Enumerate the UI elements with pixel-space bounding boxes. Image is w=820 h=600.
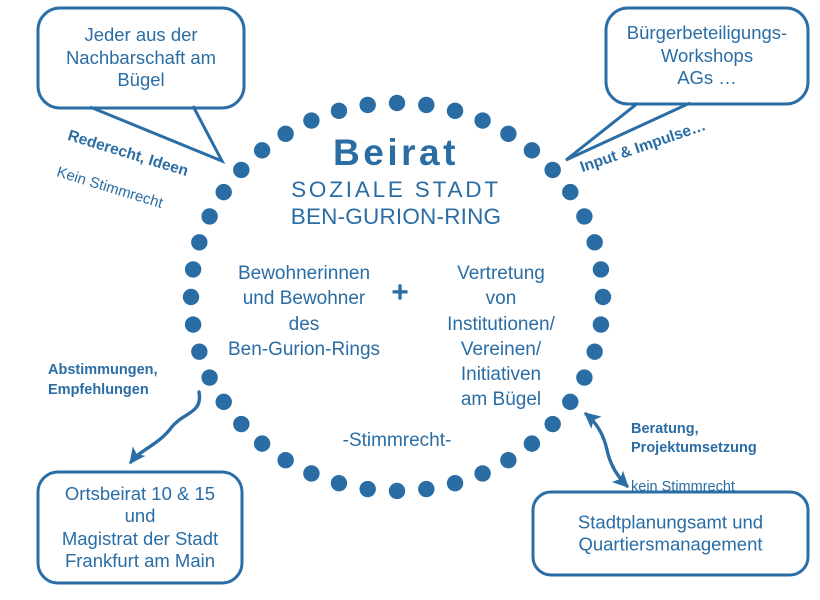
- ring-dot: [447, 475, 463, 491]
- ring-dot: [359, 481, 375, 497]
- arrow-beratung: [586, 414, 627, 486]
- ring-dot: [593, 316, 609, 332]
- ring-dot: [254, 435, 270, 451]
- ring-dot: [544, 416, 560, 432]
- ring-dot: [277, 452, 293, 468]
- arrow-abstimmungen: [131, 392, 200, 462]
- box-bottom-right-text: Stadtplanungsamt und Quartiersmanagement: [533, 511, 808, 556]
- label-beratung-bold: Beratung, Projektumsetzung: [631, 420, 796, 459]
- ring-dot: [185, 316, 201, 332]
- box-bottom-left-text: Ortsbeirat 10 & 15 und Magistrat der Sta…: [38, 482, 242, 572]
- ring-dot: [593, 261, 609, 277]
- bubble-top-right-text: Bürgerbeteiligungs- Workshops AGs …: [606, 22, 808, 90]
- ring-dot: [595, 289, 611, 305]
- ring-dot: [183, 289, 199, 305]
- ring-dot: [389, 483, 405, 499]
- ring-dot: [586, 343, 602, 359]
- bubble-top-right: Bürgerbeteiligungs- Workshops AGs …: [606, 8, 808, 104]
- ring-dot: [562, 184, 578, 200]
- center-subtitle-line1: SOZIALE STADT: [246, 176, 546, 203]
- label-beratung-normal: kein Stimmrecht: [631, 478, 796, 498]
- ring-dot: [418, 481, 434, 497]
- label-beratung: Beratung, Projektumsetzung kein Stimmrec…: [631, 400, 796, 517]
- ring-dot: [500, 452, 516, 468]
- ring-dot: [576, 208, 592, 224]
- ring-dot: [474, 112, 490, 128]
- ring-dot: [544, 162, 560, 178]
- ring-dot: [331, 103, 347, 119]
- ring-dot: [418, 97, 434, 113]
- ring-dot: [303, 112, 319, 128]
- ring-dot: [389, 95, 405, 111]
- ring-dot: [185, 261, 201, 277]
- bubble-top-left: Jeder aus der Nachbarschaft am Bügel: [38, 8, 244, 108]
- bubble-top-left-text: Jeder aus der Nachbarschaft am Bügel: [38, 24, 244, 92]
- ring-dot: [474, 465, 490, 481]
- center-left-column: Bewohnerinnen und Bewohner des Ben-Gurio…: [212, 261, 396, 362]
- ring-dot: [191, 343, 207, 359]
- ring-dot: [216, 394, 232, 410]
- box-bottom-left: Ortsbeirat 10 & 15 und Magistrat der Sta…: [38, 472, 242, 583]
- diagram-canvas: Jeder aus der Nachbarschaft am Bügel Bür…: [0, 0, 820, 600]
- center-subtitle-line2: BEN-GURION-RING: [246, 203, 546, 230]
- plus-icon: +: [383, 275, 417, 312]
- ring-dot: [303, 465, 319, 481]
- ring-dot: [447, 103, 463, 119]
- label-abstimmungen: Abstimmungen, Empfehlungen: [48, 361, 198, 400]
- ring-dot: [233, 416, 249, 432]
- center-right-column: Vertretung von Institutionen/ Vereinen/ …: [415, 261, 587, 413]
- ring-dot: [359, 97, 375, 113]
- ring-dot: [331, 475, 347, 491]
- ring-dot: [586, 234, 602, 250]
- center-footer: -Stimmrecht-: [297, 429, 497, 452]
- ring-dot: [201, 369, 217, 385]
- center-title: Beirat: [246, 130, 546, 175]
- ring-dot: [524, 435, 540, 451]
